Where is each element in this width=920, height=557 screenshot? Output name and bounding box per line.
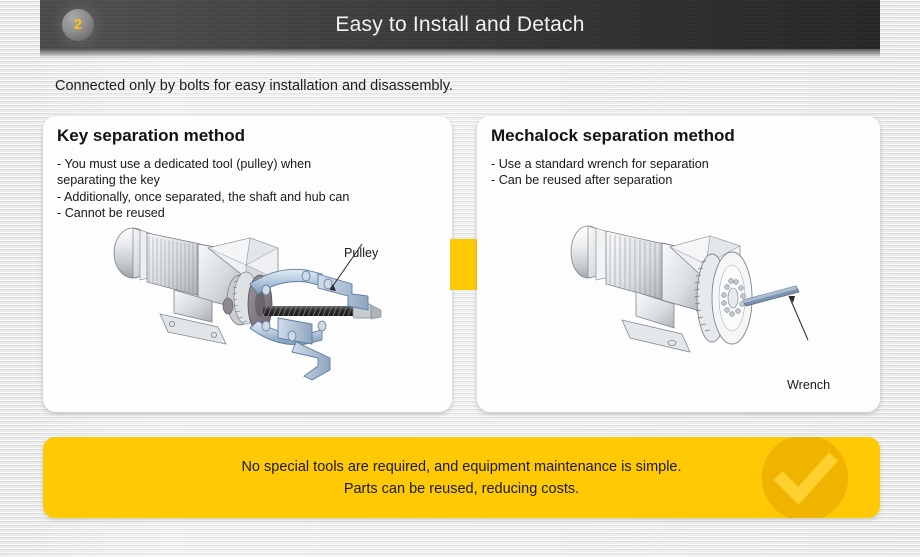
summary-line-1: No special tools are required, and equip… xyxy=(241,459,681,475)
callout-label-pulley: Pulley xyxy=(344,246,378,260)
list-item: - You must use a dedicated tool (pulley)… xyxy=(57,156,442,189)
card-title-key-separation: Key separation method xyxy=(57,126,245,146)
header-shadow-fade xyxy=(40,49,880,58)
callout-label-wrench: Wrench xyxy=(787,378,830,392)
list-item: - Can be reused after separation xyxy=(491,172,870,188)
summary-banner-text: No special tools are required, and equip… xyxy=(43,437,880,518)
gear-motor-with-pulley-puller-illustration xyxy=(100,218,390,398)
summary-line-2: Parts can be reused, reducing costs. xyxy=(344,481,579,497)
gear-motor-with-wrench-illustration xyxy=(560,212,825,380)
slide-root: Easy to Install and Detach 2 Connected o… xyxy=(0,0,920,557)
card-title-mechalock-separation: Mechalock separation method xyxy=(491,126,735,146)
slide-header-bar: Easy to Install and Detach 2 xyxy=(40,0,880,49)
step-number-label: 2 xyxy=(62,9,94,41)
card-bullets-mechalock-separation: - Use a standard wrench for separation -… xyxy=(491,156,870,189)
list-item: - Additionally, once separated, the shaf… xyxy=(57,189,442,205)
page-title: Easy to Install and Detach xyxy=(40,0,880,49)
step-number-badge: 2 xyxy=(62,9,94,41)
summary-banner: No special tools are required, and equip… xyxy=(43,437,880,518)
list-item: - Use a standard wrench for separation xyxy=(491,156,870,172)
card-bullets-key-separation: - You must use a dedicated tool (pulley)… xyxy=(57,156,442,222)
intro-text: Connected only by bolts for easy install… xyxy=(55,78,453,94)
